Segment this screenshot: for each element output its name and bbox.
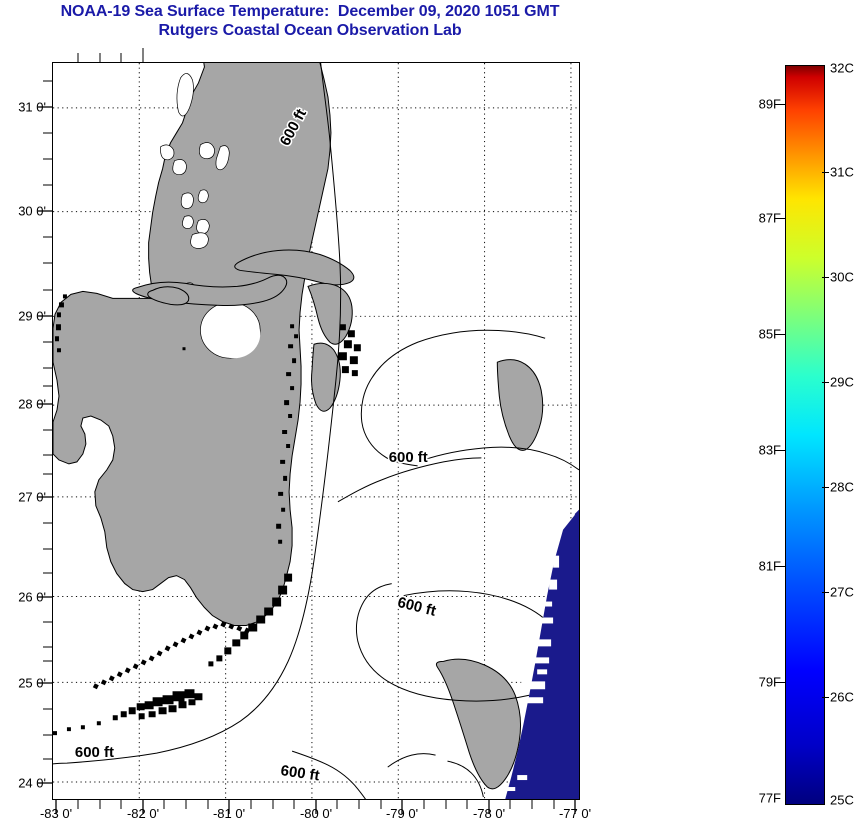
colorbar-fahrenheit-tick [779, 566, 786, 567]
contour-label-2: 600 ft [389, 449, 428, 466]
longitude-tick-label: -82 0' [127, 806, 159, 821]
page-title: NOAA-19 Sea Surface Temperature: Decembe… [0, 2, 620, 21]
longitude-tick-label: -81 0' [213, 806, 245, 821]
latitude-tick-label: 29 0' [18, 309, 46, 324]
colorbar-celsius-label: 30C [830, 270, 854, 285]
sst-map-panel[interactable]: 600 ft 600 ft 600 ft 600 ft 600 ft [52, 62, 580, 800]
colorbar-fahrenheit-label: 79F [759, 675, 781, 690]
latitude-tick-label: 28 0' [18, 397, 46, 412]
colorbar-fahrenheit-label: 77F [759, 791, 781, 806]
colorbar-celsius-tick [822, 697, 829, 698]
longitude-tick-label: -83 0' [40, 806, 72, 821]
colorbar-fahrenheit-tick [779, 334, 786, 335]
colorbar-celsius-label: 25C [830, 793, 854, 808]
colorbar-fahrenheit-label: 81F [759, 559, 781, 574]
colorbar-celsius-label: 29C [830, 375, 854, 390]
colorbar-gradient [786, 66, 824, 804]
colorbar-celsius-tick [822, 382, 829, 383]
longitude-axis-labels: -83 0'-82 0'-81 0'-80 0'-79 0'-78 0'-77 … [0, 806, 865, 832]
colorbar-fahrenheit-tick [779, 450, 786, 451]
longitude-tick-label: -78 0' [473, 806, 505, 821]
colorbar-fahrenheit-tick [779, 682, 786, 683]
colorbar-fahrenheit-label: 85F [759, 327, 781, 342]
colorbar-celsius-label: 28C [830, 480, 854, 495]
chart-title-block: NOAA-19 Sea Surface Temperature: Decembe… [0, 2, 620, 40]
colorbar-celsius-tick [822, 277, 829, 278]
colorbar-celsius-tick [822, 487, 829, 488]
colorbar-celsius-label: 31C [830, 165, 854, 180]
latitude-tick-label: 25 0' [18, 676, 46, 691]
colorbar-fahrenheit-label: 87F [759, 211, 781, 226]
sst-colorbar[interactable] [785, 65, 825, 805]
longitude-tick-label: -77 0' [559, 806, 591, 821]
page-subtitle: Rutgers Coastal Ocean Observation Lab [0, 21, 620, 40]
latitude-tick-label: 24 0' [18, 776, 46, 791]
colorbar-celsius-label: 27C [830, 585, 854, 600]
colorbar-fahrenheit-tick [779, 218, 786, 219]
longitude-tick-label: -79 0' [386, 806, 418, 821]
colorbar-fahrenheit-label: 89F [759, 97, 781, 112]
latitude-tick-label: 27 0' [18, 490, 46, 505]
latitude-tick-label: 31 0' [18, 100, 46, 115]
colorbar-fahrenheit-tick [779, 104, 786, 105]
colorbar-celsius-label: 26C [830, 690, 854, 705]
sst-map-svg: 600 ft 600 ft 600 ft 600 ft 600 ft [53, 63, 579, 799]
colorbar-fahrenheit-label: 83F [759, 443, 781, 458]
latitude-axis-labels: 31 0'30 0'29 0'28 0'27 0'26 0'25 0'24 0' [0, 0, 46, 832]
colorbar-celsius-label: 32C [830, 61, 854, 76]
colorbar-celsius-tick [822, 592, 829, 593]
latitude-tick-label: 26 0' [18, 590, 46, 605]
latitude-tick-label: 30 0' [18, 204, 46, 219]
contour-label-4: 600 ft [75, 744, 114, 761]
colorbar-celsius-tick [822, 172, 829, 173]
longitude-tick-label: -80 0' [300, 806, 332, 821]
